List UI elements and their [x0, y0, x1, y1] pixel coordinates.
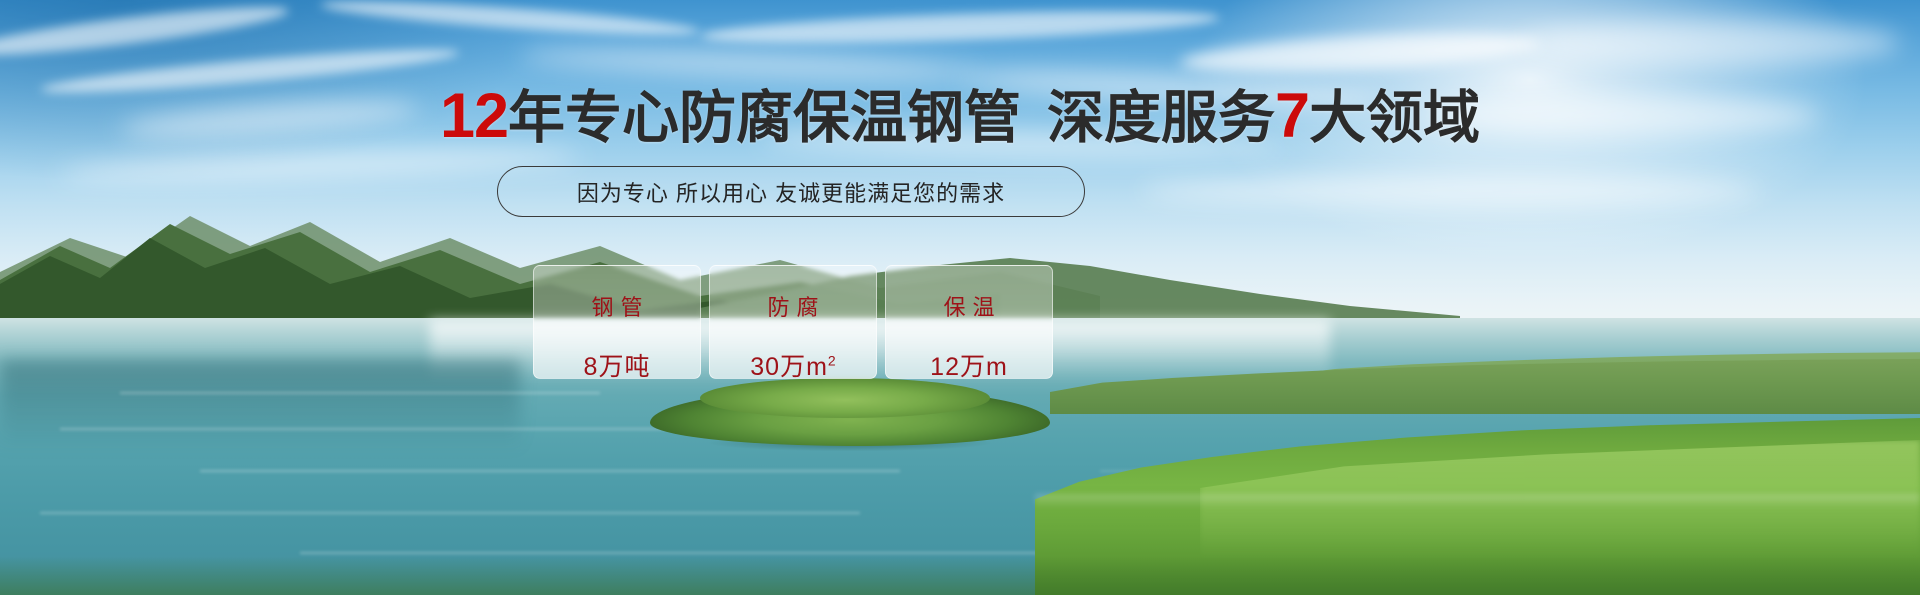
center-islet-top: [700, 378, 990, 418]
headline-fields-number: 7: [1275, 81, 1309, 151]
subtitle-pill: 因为专心 所以用心 友诚更能满足您的需求: [497, 166, 1085, 217]
grass-bottom-shade: [0, 556, 1920, 595]
hero-banner: 12年专心防腐保温钢管深度服务7大领域 因为专心 所以用心 友诚更能满足您的需求…: [0, 0, 1920, 595]
subtitle-text: 因为专心 所以用心 友诚更能满足您的需求: [577, 176, 1005, 208]
stat-card-value-text: 8万吨: [584, 353, 651, 381]
water-streak: [40, 512, 860, 514]
stat-card-label: 防腐: [760, 290, 825, 322]
water-streak: [300, 552, 1060, 554]
headline-segment-3: 大领域: [1309, 86, 1480, 150]
headline-segment-2: 深度服务: [1047, 86, 1275, 150]
stat-card-label: 钢管: [584, 290, 649, 322]
stat-card-steel-pipe: 钢管 8万吨: [533, 265, 701, 379]
page-title: 12年专心防腐保温钢管深度服务7大领域: [0, 86, 1920, 148]
stat-card-value: 12万m: [930, 347, 1008, 383]
headline-years-number: 12: [440, 81, 508, 151]
water-streak: [60, 428, 680, 430]
stat-card-list: 钢管 8万吨 防腐 30万m2 保温 12万m: [533, 265, 1053, 377]
water-shadow: [0, 360, 520, 450]
stat-card-anticorrosion: 防腐 30万m2: [709, 265, 877, 379]
grass-edge-glow: [1035, 494, 1920, 508]
stat-card-label: 保温: [936, 290, 1001, 322]
headline-segment-1: 年专心防腐保温钢管: [508, 86, 1021, 150]
stat-card-value-text: 30万m: [750, 353, 828, 381]
cloud-wisp: [1520, 20, 1900, 66]
stat-card-value: 8万吨: [584, 347, 651, 383]
stat-card-insulation: 保温 12万m: [885, 265, 1053, 379]
water-streak: [200, 470, 900, 472]
water-streak: [120, 392, 600, 394]
cloud-wisp: [1140, 176, 1760, 206]
stat-card-value-exponent: 2: [828, 353, 836, 369]
stat-card-value-text: 12万m: [930, 353, 1008, 381]
stat-card-value: 30万m2: [750, 347, 835, 383]
